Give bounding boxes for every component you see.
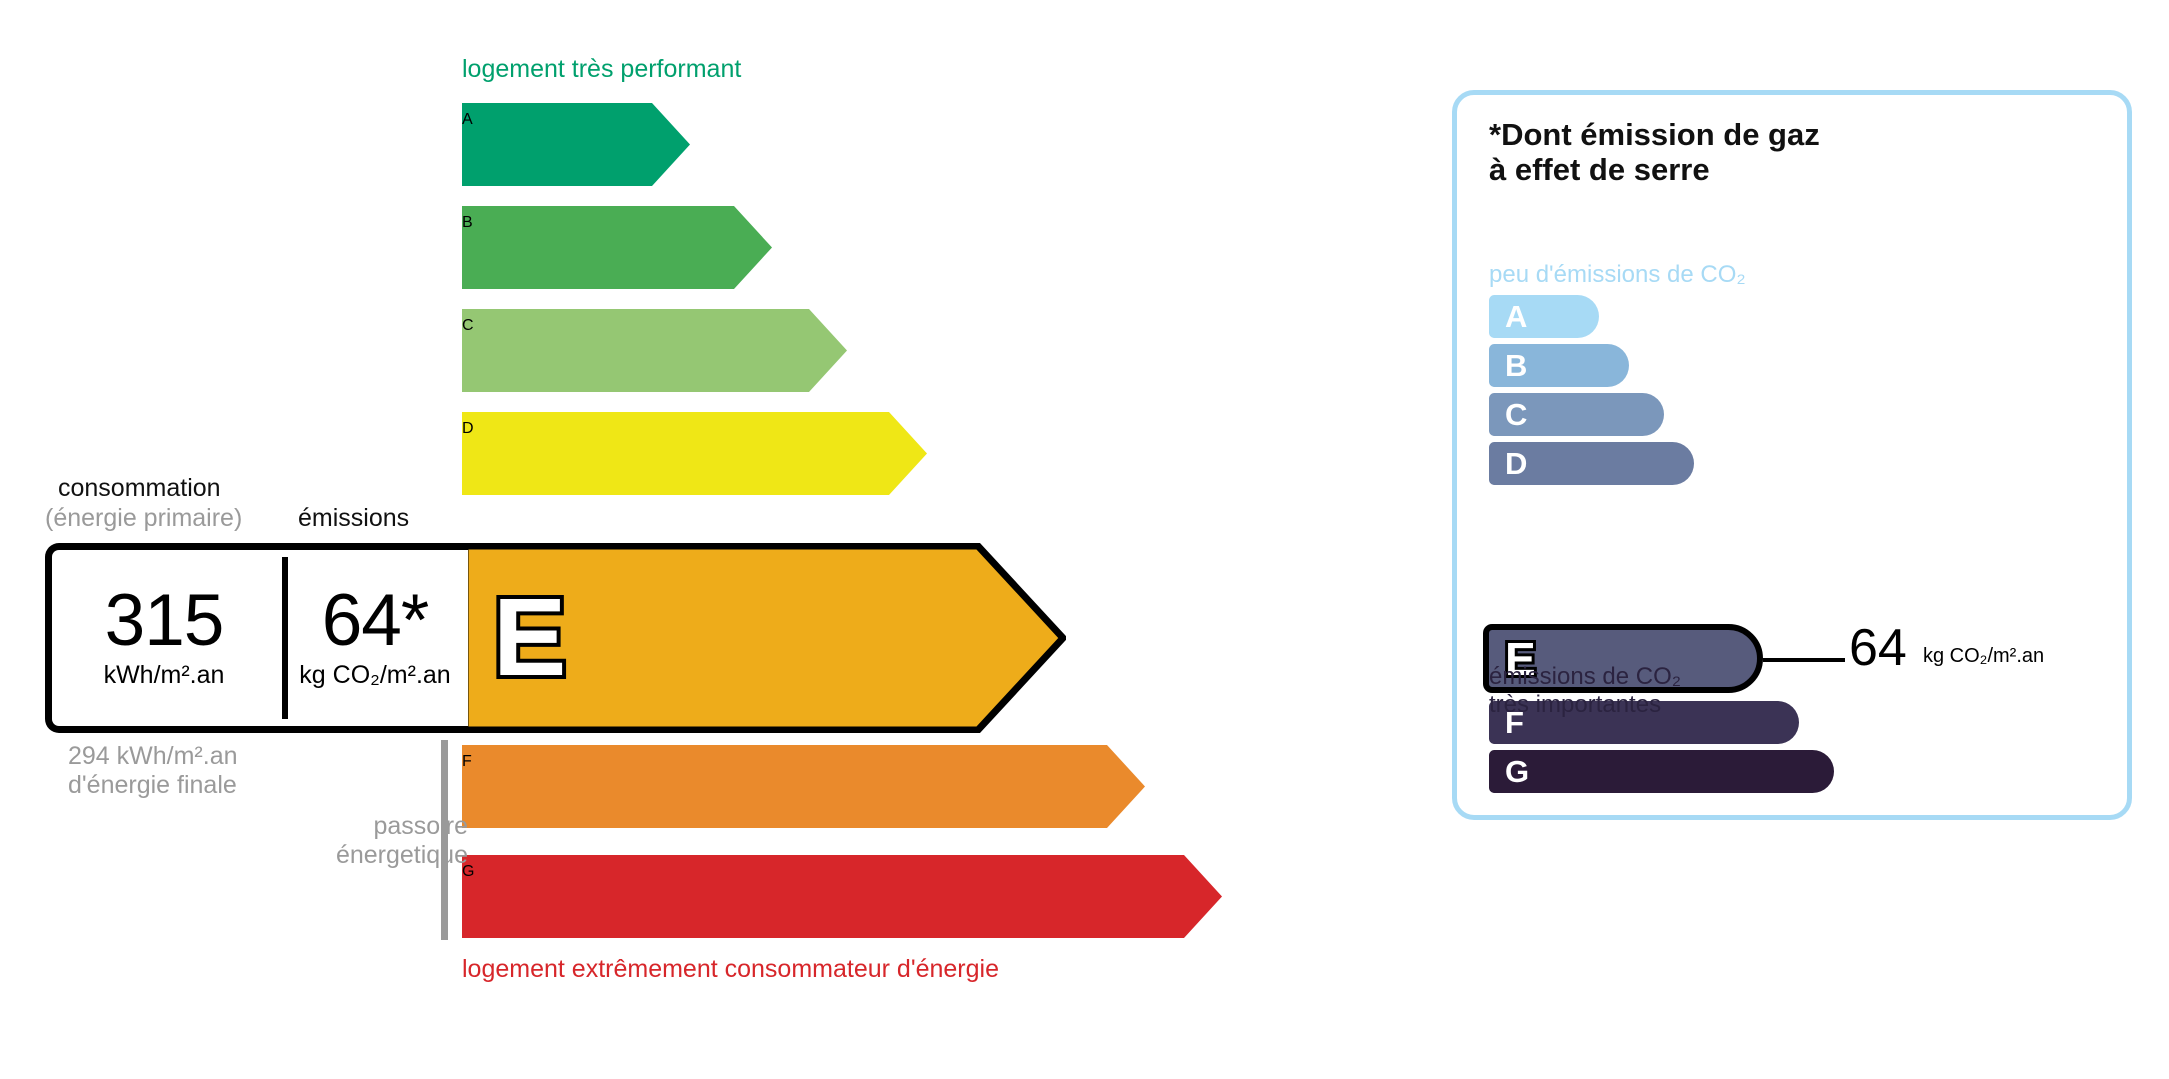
ghg-title: *Dont émission de gaz à effet de serre (1489, 117, 1820, 187)
ghg-bottom-caption-line-2: très importantes (1489, 691, 1681, 719)
emission-unit: kg CO₂/m².an (299, 661, 450, 690)
energy-bar-a-letter: A (462, 111, 473, 129)
ghg-leader-line (1763, 658, 1845, 662)
ghg-bar-a: A (1489, 295, 1599, 338)
value-box-divider (282, 557, 288, 719)
emission-cell: 64* kg CO₂/m².an (290, 543, 460, 733)
energy-bar-d-letter: D (462, 420, 474, 438)
energy-bar-b-shape (462, 206, 772, 289)
emission-value: 64* (322, 586, 429, 655)
energy-bar-c-letter: C (462, 317, 474, 335)
primary-energy-unit: kWh/m².an (104, 661, 225, 690)
ghg-bar-g: G (1489, 750, 1834, 793)
label-consumption-sub: (énergie primaire) (45, 504, 242, 533)
ghg-bar-d: D (1489, 442, 1694, 485)
final-energy-sub: d'énergie finale (68, 771, 238, 800)
ghg-bar-b: B (1489, 344, 1629, 387)
ghg-value: 64 (1849, 622, 1907, 674)
energy-performance-chart: logement très performant A B C D E (0, 0, 1400, 1079)
ghg-bottom-caption-line-1: émissions de CO₂ (1489, 663, 1681, 691)
ghg-bar-a-letter: A (1505, 301, 1527, 332)
energy-bar-b-letter: B (462, 214, 473, 232)
passoire-bracket (441, 740, 448, 940)
label-emissions: émissions (298, 504, 409, 533)
energy-bottom-caption: logement extrêmement consommateur d'éner… (462, 955, 999, 984)
primary-energy-cell: 315 kWh/m².an (55, 543, 273, 733)
ghg-bar-d-letter: D (1505, 448, 1527, 479)
ghg-emissions-panel: *Dont émission de gaz à effet de serre p… (1452, 90, 2132, 820)
ghg-bar-b-letter: B (1505, 350, 1527, 381)
ghg-unit: kg CO₂/m².an (1923, 645, 2044, 668)
energy-bar-c-shape (462, 309, 847, 392)
final-energy-value: 294 kWh/m².an (68, 742, 238, 771)
label-consumption: consommation (58, 474, 221, 503)
energy-bar-f-letter: F (462, 753, 472, 771)
final-energy-label: 294 kWh/m².an d'énergie finale (68, 742, 238, 800)
energy-bar-e-letter: E (493, 583, 566, 693)
energy-bar-g-shape (462, 855, 1222, 938)
energy-bar-e-selected: E 315 kWh/m².an 64* kg CO₂/m².an (45, 543, 1065, 733)
energy-bar-d-shape (462, 412, 927, 495)
energy-bar-f-shape (462, 745, 1145, 828)
ghg-bar-c: C (1489, 393, 1664, 436)
ghg-bar-c-letter: C (1505, 399, 1527, 430)
ghg-title-line-2: à effet de serre (1489, 152, 1820, 187)
energy-top-caption: logement très performant (462, 55, 741, 84)
ghg-bottom-caption: émissions de CO₂ très importantes (1489, 663, 1681, 720)
ghg-top-caption: peu d'émissions de CO₂ (1489, 261, 1746, 289)
ghg-title-line-1: *Dont émission de gaz (1489, 117, 1820, 152)
primary-energy-value: 315 (105, 586, 224, 655)
ghg-bar-g-letter: G (1505, 756, 1529, 787)
energy-bar-a-shape (462, 103, 690, 186)
